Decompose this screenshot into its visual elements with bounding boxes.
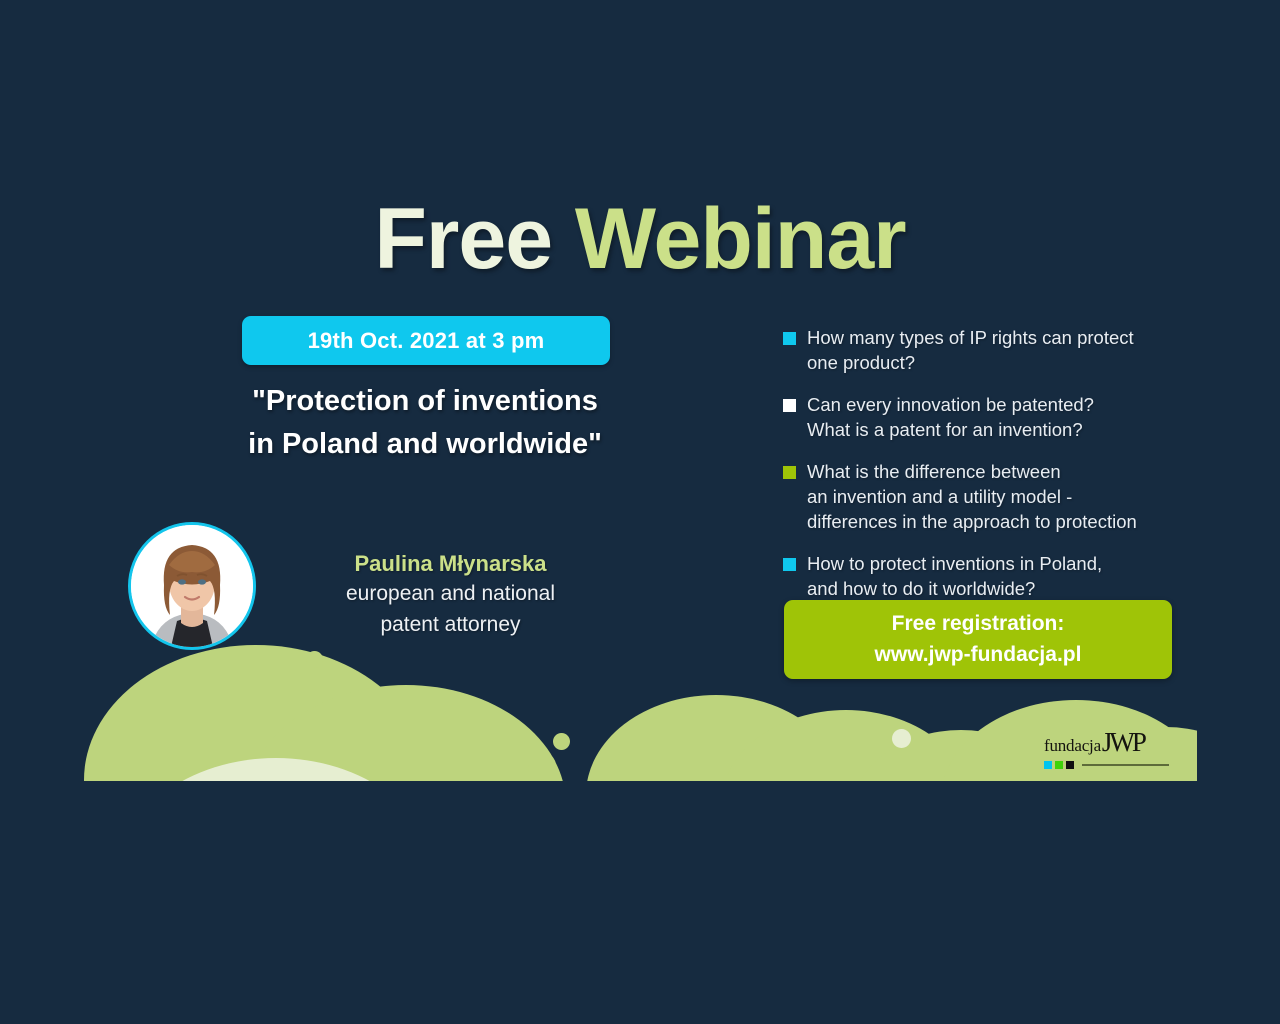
fundacja-jwp-logo: fundacja JWP bbox=[1044, 727, 1169, 775]
speaker-block: Paulina Młynarska european and national … bbox=[128, 522, 628, 642]
subject-line-2: in Poland and worldwide" bbox=[160, 423, 690, 466]
agenda-line-1: What is the difference between bbox=[807, 461, 1061, 482]
date-badge: 19th Oct. 2021 at 3 pm bbox=[242, 316, 610, 365]
speaker-name: Paulina Młynarska bbox=[273, 548, 628, 579]
agenda-line-2: What is a patent for an invention? bbox=[807, 419, 1083, 440]
bullet-square-icon bbox=[783, 399, 796, 412]
cta-line-1: Free registration: bbox=[892, 609, 1065, 639]
logo-square-black bbox=[1066, 761, 1074, 769]
speaker-text: Paulina Młynarska european and national … bbox=[273, 548, 628, 641]
logo-square-cyan bbox=[1044, 761, 1052, 769]
speaker-role-line-1: european and national bbox=[273, 579, 628, 610]
agenda-item: What is the difference between an invent… bbox=[783, 460, 1183, 535]
speaker-role-line-2: patent attorney bbox=[273, 610, 628, 641]
logo-square-green bbox=[1055, 761, 1063, 769]
agenda-line-3: differences in the approach to protectio… bbox=[807, 511, 1137, 532]
agenda-item-text: What is the difference between an invent… bbox=[807, 460, 1137, 535]
agenda-item-text: How to protect inventions in Poland, and… bbox=[807, 552, 1102, 602]
date-badge-label: 19th Oct. 2021 at 3 pm bbox=[308, 328, 545, 354]
decor-dot-green-small-left bbox=[306, 651, 323, 668]
agenda-item-text: How many types of IP rights can protect … bbox=[807, 326, 1134, 376]
logo-wordmark: fundacja JWP bbox=[1044, 727, 1169, 758]
agenda-line-1: How many types of IP rights can protect bbox=[807, 327, 1134, 348]
logo-rule bbox=[1082, 764, 1169, 766]
agenda-item: How many types of IP rights can protect … bbox=[783, 326, 1183, 376]
title-word-free: Free bbox=[374, 191, 575, 287]
agenda-line-2: and how to do it worldwide? bbox=[807, 578, 1035, 599]
bullet-square-icon bbox=[783, 558, 796, 571]
agenda-list: How many types of IP rights can protect … bbox=[783, 326, 1183, 619]
agenda-line-1: Can every innovation be patented? bbox=[807, 394, 1094, 415]
agenda-line-2: one product? bbox=[807, 352, 915, 373]
speaker-avatar bbox=[128, 522, 256, 650]
decor-dot-green-large-mid bbox=[528, 752, 556, 780]
logo-accent-bar bbox=[1044, 761, 1169, 769]
agenda-item: How to protect inventions in Poland, and… bbox=[783, 552, 1183, 602]
webinar-banner: Free Webinar 19th Oct. 2021 at 3 pm "Pro… bbox=[0, 0, 1280, 1024]
subject-line-1: "Protection of inventions bbox=[160, 380, 690, 423]
decor-dot-cream-right bbox=[892, 729, 911, 748]
agenda-line-1: How to protect inventions in Poland, bbox=[807, 553, 1102, 574]
agenda-item-text: Can every innovation be patented? What i… bbox=[807, 393, 1094, 443]
registration-cta-button[interactable]: Free registration: www.jwp-fundacja.pl bbox=[784, 600, 1172, 679]
bullet-square-icon bbox=[783, 332, 796, 345]
decor-dot-green-small-mid bbox=[553, 733, 570, 750]
cta-line-2: www.jwp-fundacja.pl bbox=[875, 640, 1082, 670]
logo-mark-jwp: JWP bbox=[1102, 727, 1144, 758]
webinar-subject: "Protection of inventions in Poland and … bbox=[160, 380, 690, 466]
bullet-square-icon bbox=[783, 466, 796, 479]
page-title: Free Webinar bbox=[0, 196, 1280, 282]
title-word-webinar: Webinar bbox=[575, 191, 906, 287]
agenda-item: Can every innovation be patented? What i… bbox=[783, 393, 1183, 443]
logo-word-fundacja: fundacja bbox=[1044, 736, 1101, 756]
agenda-line-2: an invention and a utility model - bbox=[807, 486, 1072, 507]
